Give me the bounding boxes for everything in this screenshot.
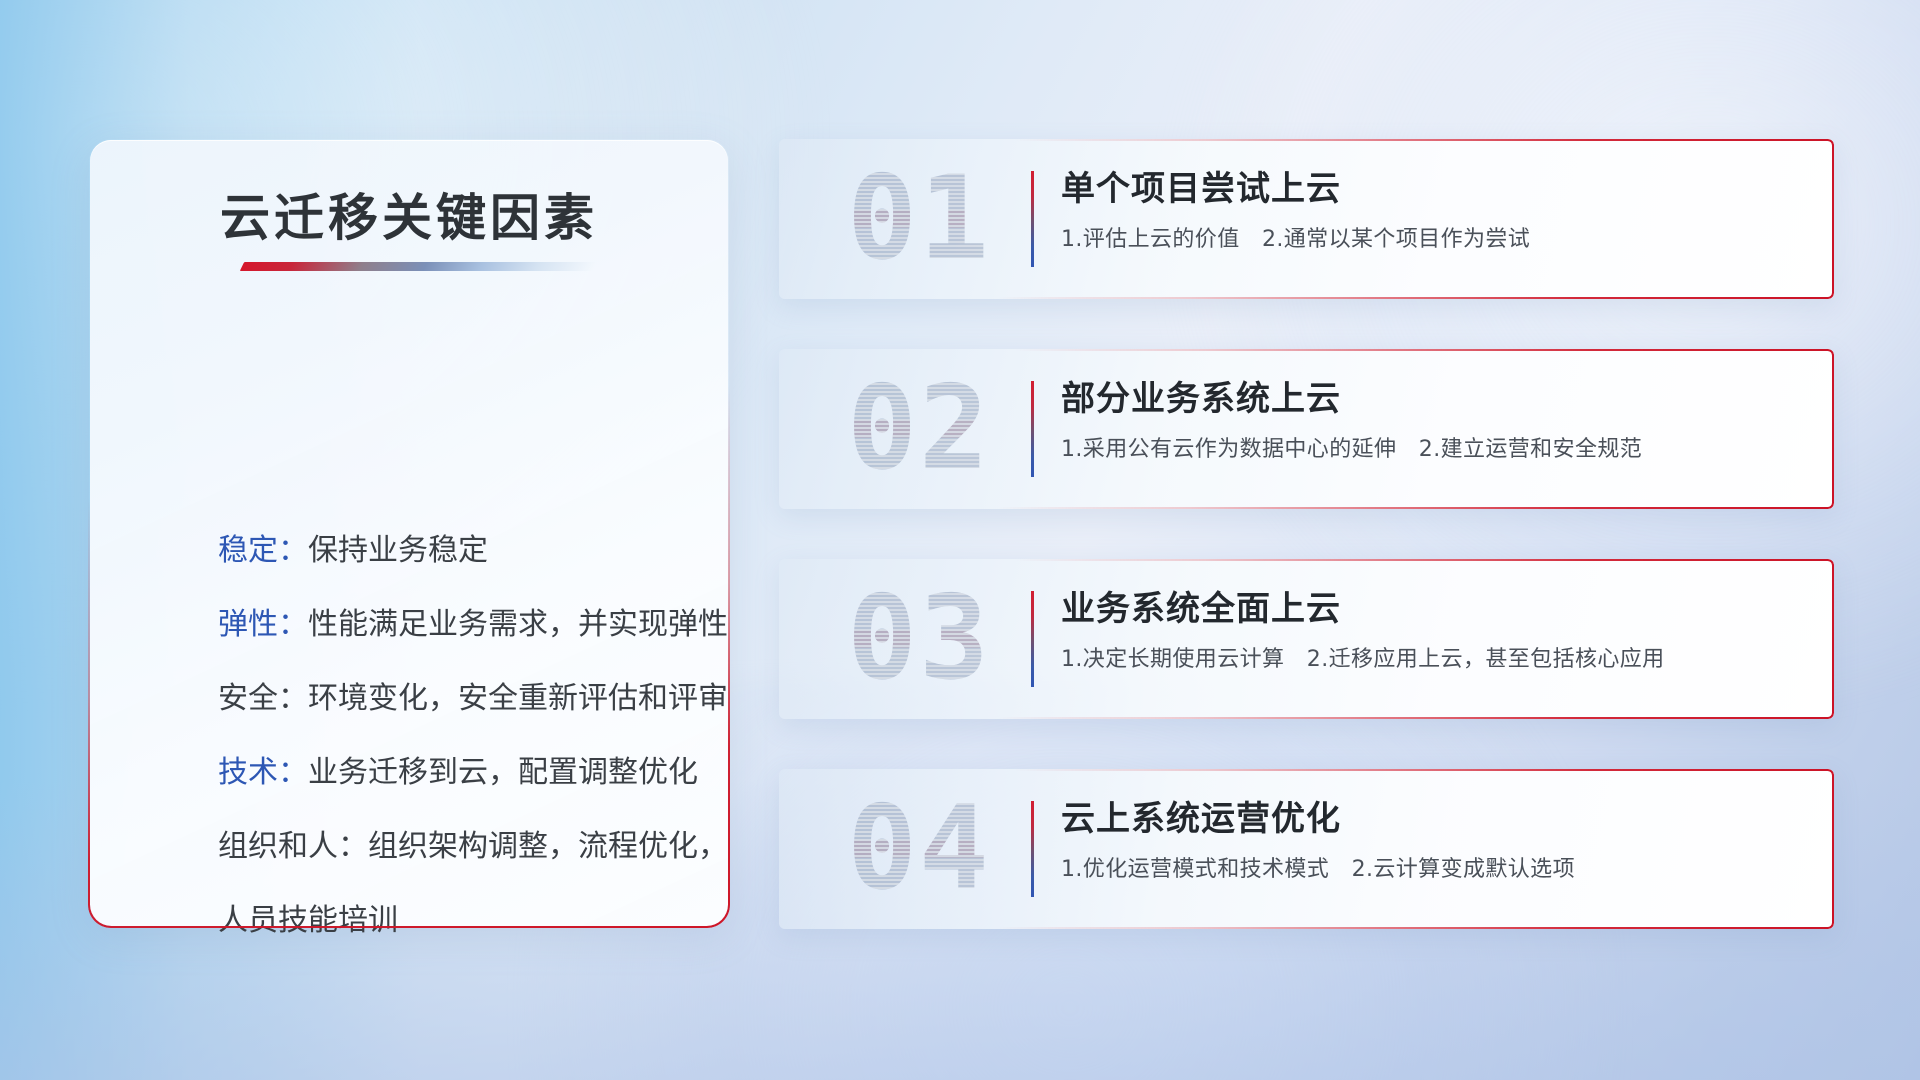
factor-key: 稳定：: [218, 533, 308, 568]
factor-item: 技术：业务迁移到云，配置调整优化: [218, 736, 688, 810]
page-title: 云迁移关键因素: [90, 178, 728, 250]
stage-card-list: 01 01 01 单个项目尝试上云 1.评估上云的价值 2.通常以某个项目作为尝…: [779, 139, 1834, 979]
key-factors-panel: 云迁移关键因素 稳定：保持业务稳定 弹性：性能满足业务需求，并实现弹性 安全：环…: [89, 139, 729, 927]
stage-card-body: 单个项目尝试上云 1.评估上云的价值 2.通常以某个项目作为尝试: [1061, 165, 1810, 257]
factor-value: 环境变化，安全重新评估和评审: [308, 681, 728, 716]
stage-card[interactable]: 02 02 02 部分业务系统上云 1.采用公有云作为数据中心的延伸 2.建立运…: [779, 349, 1834, 509]
stage-title: 单个项目尝试上云: [1061, 165, 1810, 213]
stage-title: 部分业务系统上云: [1061, 375, 1810, 423]
stage-number-watermark: 04: [809, 777, 1029, 921]
factor-key: 弹性：: [218, 607, 308, 642]
factor-value: 业务迁移到云，配置调整优化: [308, 755, 698, 790]
stage-title: 云上系统运营优化: [1061, 795, 1810, 843]
stage-description: 1.决定长期使用云计算 2.迁移应用上云，甚至包括核心应用: [1061, 643, 1810, 677]
stage-card-body: 部分业务系统上云 1.采用公有云作为数据中心的延伸 2.建立运营和安全规范: [1061, 375, 1810, 467]
slide-canvas: 云迁移关键因素 稳定：保持业务稳定 弹性：性能满足业务需求，并实现弹性 安全：环…: [0, 0, 1920, 1080]
factor-item: 稳定：保持业务稳定: [218, 514, 688, 588]
stage-description: 1.采用公有云作为数据中心的延伸 2.建立运营和安全规范: [1061, 433, 1810, 467]
factor-key: 组织和人：: [218, 829, 368, 864]
key-factors-list: 稳定：保持业务稳定 弹性：性能满足业务需求，并实现弹性 安全：环境变化，安全重新…: [218, 514, 688, 958]
factor-value: 组织架构调整，流程优化，: [368, 829, 728, 864]
factor-key: 技术：: [218, 755, 308, 790]
stage-accent-divider: [1031, 801, 1034, 897]
title-underline-rule: [240, 262, 596, 271]
stage-accent-divider: [1031, 381, 1034, 477]
factor-item: 组织和人：组织架构调整，流程优化，: [218, 810, 688, 884]
factor-value: 性能满足业务需求，并实现弹性: [308, 607, 728, 642]
stage-accent-divider: [1031, 591, 1034, 687]
factor-item: 安全：环境变化，安全重新评估和评审: [218, 662, 688, 736]
stage-card[interactable]: 04 04 04 云上系统运营优化 1.优化运营模式和技术模式 2.云计算变成默…: [779, 769, 1834, 929]
factor-value: 保持业务稳定: [308, 533, 488, 568]
stage-card-body: 云上系统运营优化 1.优化运营模式和技术模式 2.云计算变成默认选项: [1061, 795, 1810, 887]
stage-number-watermark: 01: [809, 147, 1029, 291]
stage-number-watermark: 03: [809, 567, 1029, 711]
factor-item-continuation: 人员技能培训: [218, 884, 688, 958]
stage-accent-divider: [1031, 171, 1034, 267]
factor-value: 人员技能培训: [218, 903, 398, 938]
stage-card[interactable]: 03 03 03 业务系统全面上云 1.决定长期使用云计算 2.迁移应用上云，甚…: [779, 559, 1834, 719]
factor-key: 安全：: [218, 681, 308, 716]
stage-number-watermark: 02: [809, 357, 1029, 501]
stage-title: 业务系统全面上云: [1061, 585, 1810, 633]
stage-card-body: 业务系统全面上云 1.决定长期使用云计算 2.迁移应用上云，甚至包括核心应用: [1061, 585, 1810, 677]
stage-description: 1.优化运营模式和技术模式 2.云计算变成默认选项: [1061, 853, 1810, 887]
stage-description: 1.评估上云的价值 2.通常以某个项目作为尝试: [1061, 223, 1810, 257]
factor-item: 弹性：性能满足业务需求，并实现弹性: [218, 588, 688, 662]
stage-card[interactable]: 01 01 01 单个项目尝试上云 1.评估上云的价值 2.通常以某个项目作为尝…: [779, 139, 1834, 299]
